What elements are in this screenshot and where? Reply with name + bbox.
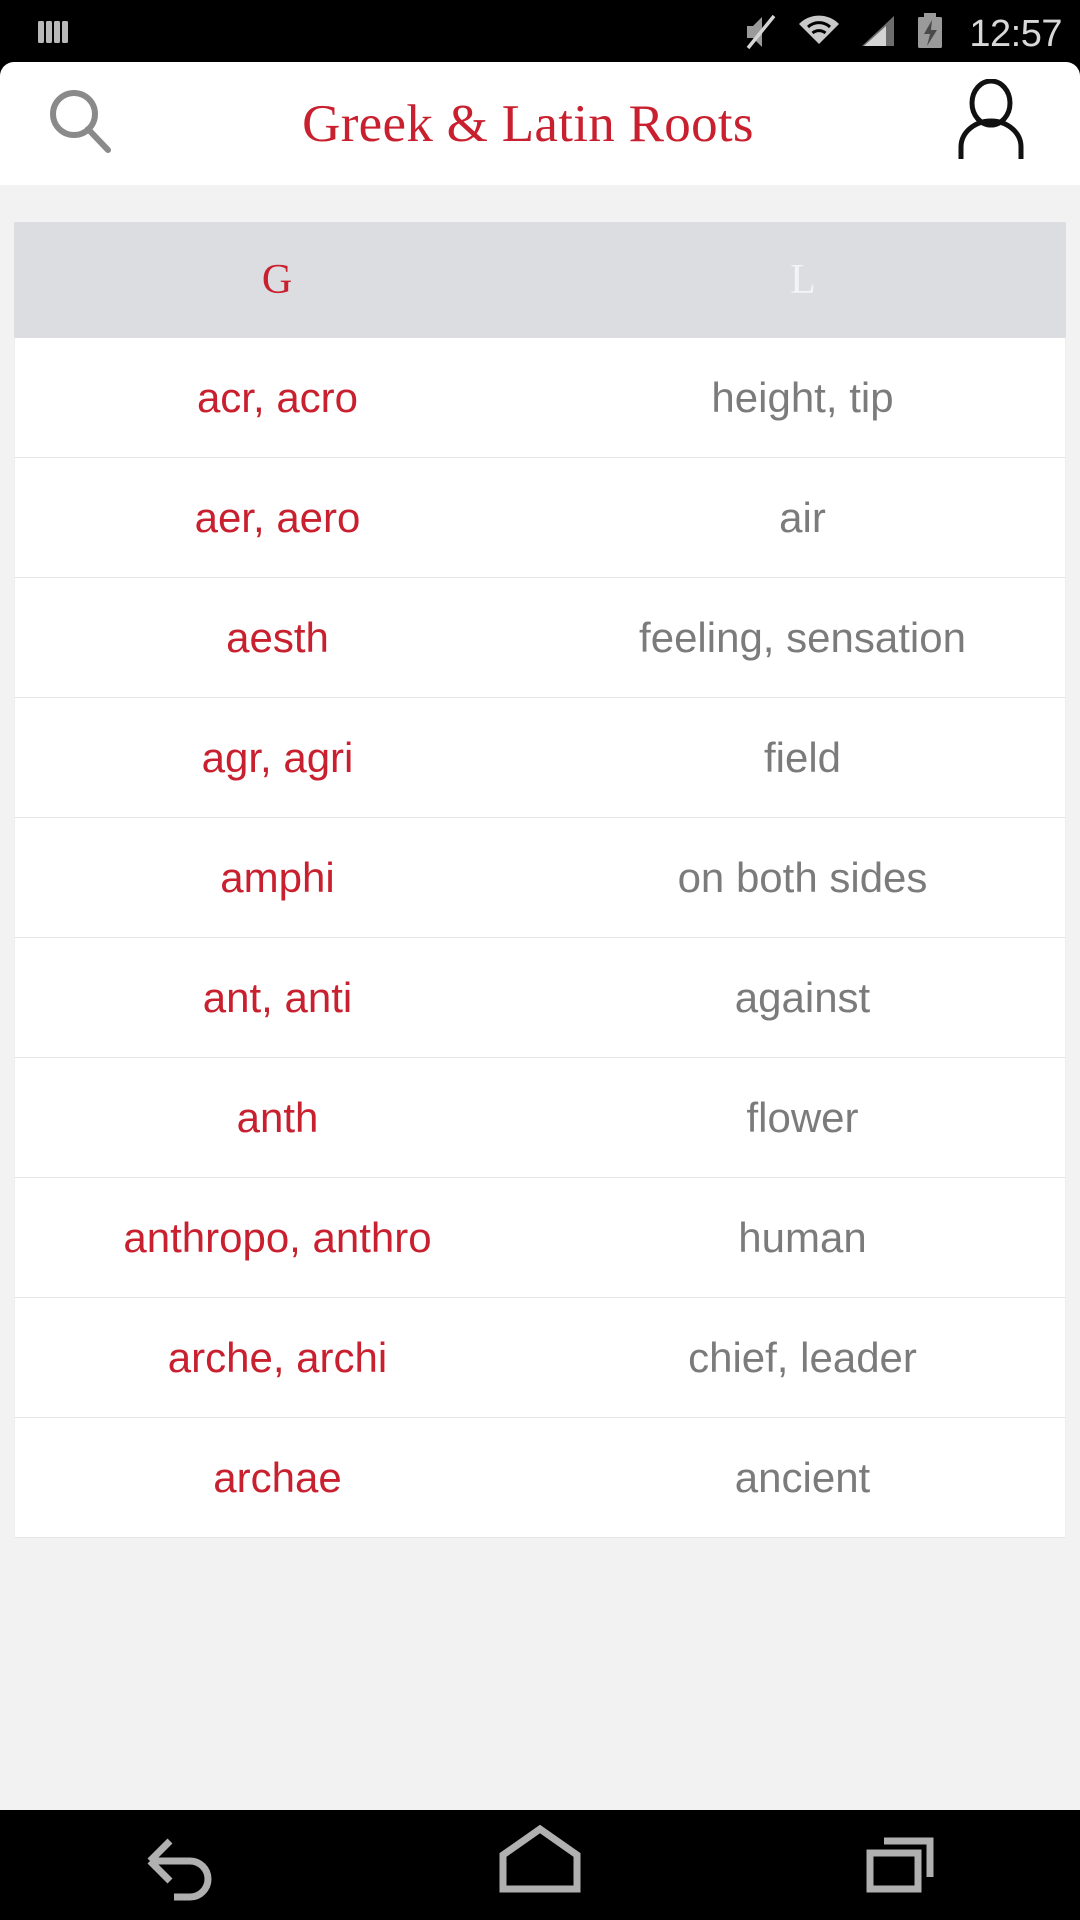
meaning-cell: field: [540, 734, 1065, 782]
meaning-cell: air: [540, 494, 1065, 542]
recents-icon[interactable]: [848, 1811, 952, 1920]
roots-table: G L acr, acro height, tip aer, aero air …: [14, 222, 1066, 1538]
root-cell: amphi: [15, 854, 540, 902]
table-row[interactable]: anthropo, anthro human: [14, 1178, 1066, 1298]
meaning-cell: against: [540, 974, 1065, 1022]
root-cell: acr, acro: [15, 374, 540, 422]
root-cell: archae: [15, 1454, 540, 1502]
phone-screen: 12:57 Greek & Latin Roots: [0, 0, 1080, 1920]
status-bar: 12:57: [0, 0, 1080, 68]
search-icon[interactable]: [42, 83, 118, 164]
mute-icon: [740, 10, 782, 59]
page-title: Greek & Latin Roots: [136, 94, 920, 154]
table-row[interactable]: aer, aero air: [14, 458, 1066, 578]
meaning-cell: height, tip: [540, 374, 1065, 422]
signal-icon: [856, 10, 900, 59]
status-bar-left: [30, 10, 74, 59]
meaning-cell: ancient: [540, 1454, 1065, 1502]
root-cell: arche, archi: [15, 1334, 540, 1382]
table-row[interactable]: archae ancient: [14, 1418, 1066, 1538]
status-bar-right: 12:57: [740, 10, 1062, 59]
back-icon[interactable]: [128, 1811, 232, 1920]
root-cell: ant, anti: [15, 974, 540, 1022]
status-bar-clock: 12:57: [969, 13, 1062, 56]
meaning-cell: feeling, sensation: [540, 614, 1065, 662]
home-icon[interactable]: [485, 1811, 595, 1920]
table-row[interactable]: anth flower: [14, 1058, 1066, 1178]
root-cell: agr, agri: [15, 734, 540, 782]
nav-recents-button[interactable]: [720, 1810, 1080, 1920]
app-bar: Greek & Latin Roots: [0, 62, 1080, 185]
wifi-icon: [795, 10, 843, 59]
nav-home-button[interactable]: [360, 1810, 720, 1920]
root-cell: anthropo, anthro: [15, 1214, 540, 1262]
meaning-cell: chief, leader: [540, 1334, 1065, 1382]
column-header-greek[interactable]: G: [14, 256, 540, 304]
meaning-cell: human: [540, 1214, 1065, 1262]
battery-charging-icon: [913, 10, 947, 59]
search-button[interactable]: [0, 62, 150, 185]
table-header-row: G L: [14, 222, 1066, 338]
meaning-cell: on both sides: [540, 854, 1065, 902]
account-button[interactable]: [920, 62, 1080, 185]
table-row[interactable]: ant, anti against: [14, 938, 1066, 1058]
table-row[interactable]: acr, acro height, tip: [14, 338, 1066, 458]
meaning-cell: flower: [540, 1094, 1065, 1142]
table-row[interactable]: aesth feeling, sensation: [14, 578, 1066, 698]
root-cell: aer, aero: [15, 494, 540, 542]
table-row[interactable]: arche, archi chief, leader: [14, 1298, 1066, 1418]
table-row[interactable]: agr, agri field: [14, 698, 1066, 818]
nav-back-button[interactable]: [0, 1810, 360, 1920]
account-icon[interactable]: [952, 79, 1030, 168]
table-row[interactable]: amphi on both sides: [14, 818, 1066, 938]
root-cell: aesth: [15, 614, 540, 662]
root-cell: anth: [15, 1094, 540, 1142]
library-bars-icon: [30, 10, 74, 59]
content-area[interactable]: G L acr, acro height, tip aer, aero air …: [0, 185, 1080, 1810]
android-nav-bar: [0, 1810, 1080, 1920]
column-header-latin[interactable]: L: [540, 256, 1066, 304]
